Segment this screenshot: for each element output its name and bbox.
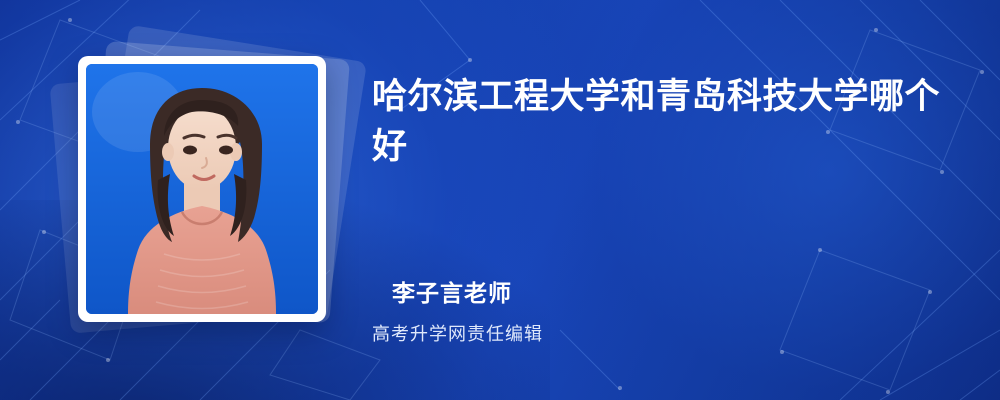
page-title: 哈尔滨工程大学和青岛科技大学哪个好: [372, 72, 952, 171]
author-role: 高考升学网责任编辑: [372, 320, 543, 346]
article-banner: 哈尔滨工程大学和青岛科技大学哪个好 李子言老师 高考升学网责任编辑: [0, 0, 1000, 400]
author-photo-card: [78, 56, 326, 322]
author-portrait-illustration: [86, 64, 318, 314]
author-photo: [86, 64, 318, 314]
background-glow-right: [500, 0, 1000, 400]
author-name: 李子言老师: [392, 274, 512, 308]
headline-block: 哈尔滨工程大学和青岛科技大学哪个好: [372, 72, 952, 171]
